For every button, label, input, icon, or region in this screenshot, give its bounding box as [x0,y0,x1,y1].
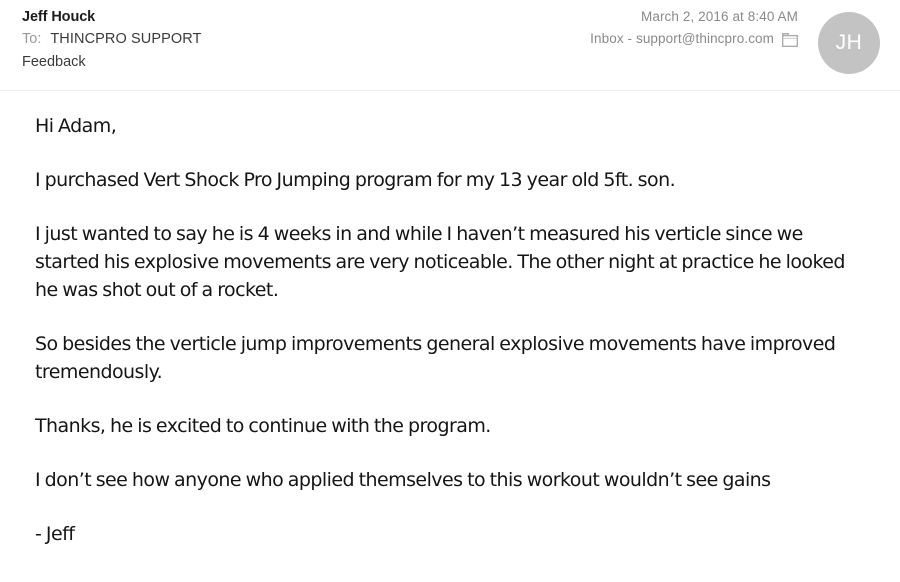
email-subject: Feedback [22,51,542,73]
email-header-right: March 2, 2016 at 8:40 AM Inbox - support… [550,7,880,49]
avatar-initials: JH [836,31,863,55]
folder-icon[interactable] [782,33,798,47]
body-signature: - Jeff [35,520,865,548]
mailbox-label: Inbox - support@thincpro.com [590,29,774,49]
email-header: Jeff Houck To: THINCPRO SUPPORT Feedback… [0,0,900,90]
body-paragraph: Thanks, he is excited to continue with t… [35,412,865,440]
body-paragraph: I just wanted to say he is 4 weeks in an… [35,220,865,304]
body-paragraph: I don’t see how anyone who applied thems… [35,466,865,494]
email-header-left: Jeff Houck To: THINCPRO SUPPORT Feedback [22,7,542,73]
body-paragraph: So besides the verticle jump improvement… [35,330,865,386]
body-paragraph: I purchased Vert Shock Pro Jumping progr… [35,166,865,194]
email-body: Hi Adam, I purchased Vert Shock Pro Jump… [35,112,865,548]
sender-name: Jeff Houck [22,7,542,27]
to-label: To: [22,28,41,50]
header-divider [0,90,900,91]
email-message-window: Jeff Houck To: THINCPRO SUPPORT Feedback… [0,0,900,582]
avatar[interactable]: JH [818,12,880,74]
recipient-name[interactable]: THINCPRO SUPPORT [50,28,201,50]
body-paragraph: Hi Adam, [35,112,865,140]
recipient-row: To: THINCPRO SUPPORT [22,28,542,50]
